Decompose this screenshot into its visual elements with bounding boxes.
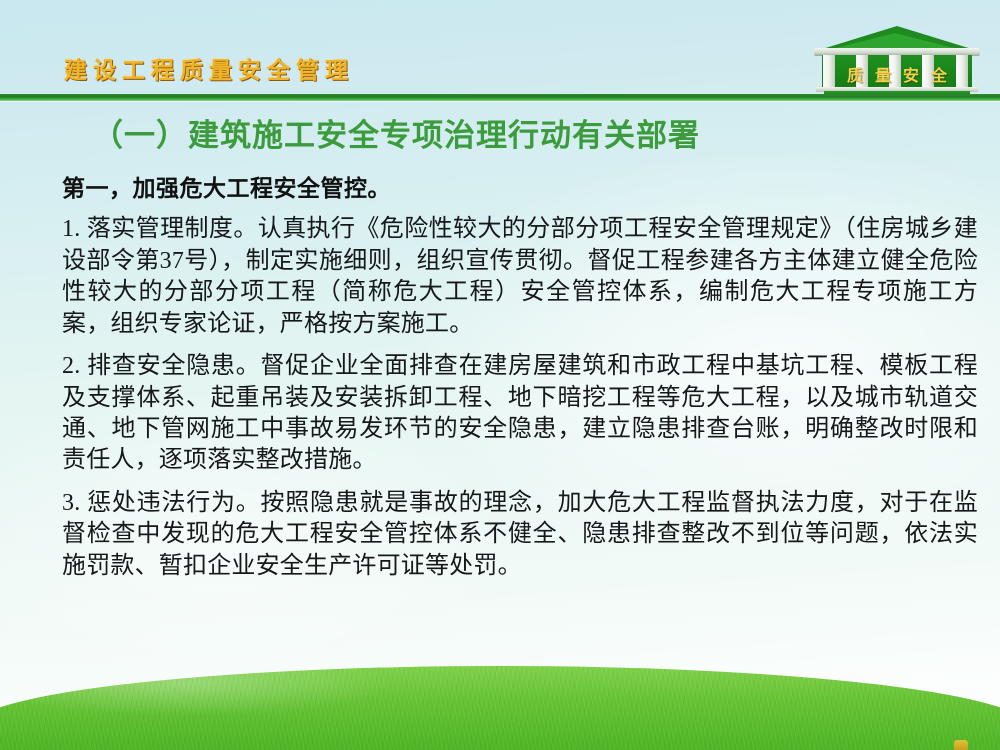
grass-hill-decoration	[0, 666, 1000, 750]
slide-header: 建设工程质量安全管理 质量安全	[0, 0, 1000, 101]
slide-content: （一）建筑施工安全专项治理行动有关部署 第一，加强危大工程安全管控。 1. 落实…	[0, 101, 1000, 582]
page-title: （一）建筑施工安全专项治理行动有关部署	[0, 101, 1000, 156]
body-paragraph: 1. 落实管理制度。认真执行《危险性较大的分部分项工程安全管理规定》（住房城乡建…	[0, 203, 1000, 340]
emblem-label: 质量安全	[806, 62, 988, 86]
header-banner-title: 建设工程质量安全管理	[64, 60, 354, 83]
body-paragraph-list: 1. 落实管理制度。认真执行《危险性较大的分部分项工程安全管理规定》（住房城乡建…	[0, 203, 1000, 582]
emblem-roof-sheen	[832, 33, 958, 49]
body-paragraph: 3. 惩处违法行为。按照隐患就是事故的理念，加大危大工程监督执法力度，对于在监督…	[0, 477, 1000, 582]
header-divider	[0, 94, 1000, 101]
flower-decoration	[954, 740, 968, 750]
presentation-slide: 建设工程质量安全管理 质量安全 （一）建筑施工安全专项治理行动有关部署 第一，加…	[0, 0, 1000, 750]
body-paragraph: 2. 排查安全隐患。督促企业全面排查在建房屋建筑和市政工程中基坑工程、模板工程及…	[0, 340, 1000, 477]
quality-safety-emblem-icon: 质量安全	[806, 26, 988, 98]
lead-statement: 第一，加强危大工程安全管控。	[0, 156, 1000, 204]
grass-texture	[0, 666, 1000, 750]
